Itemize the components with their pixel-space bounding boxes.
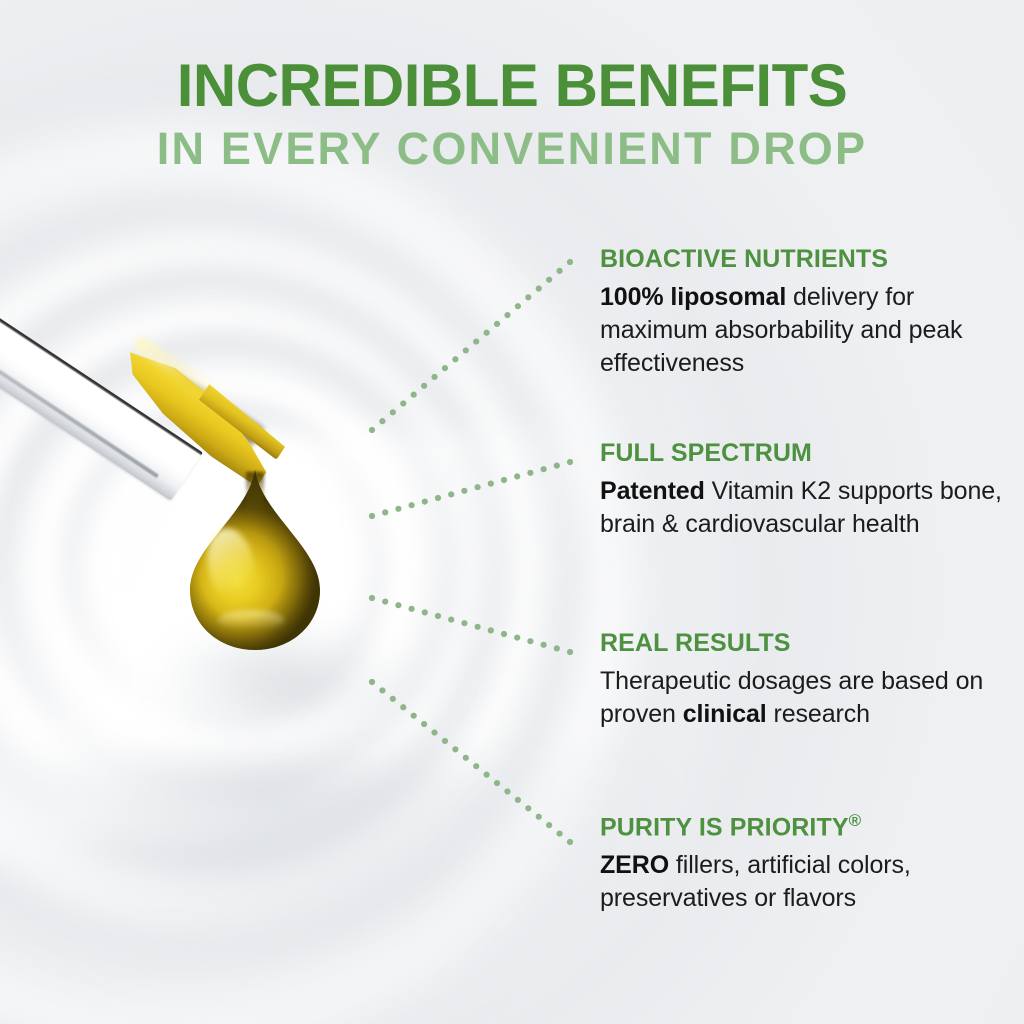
benefits-list: BIOACTIVE NUTRIENTS 100% liposomal deliv…	[600, 0, 1010, 1024]
benefit-body: Therapeutic dosages are based on proven …	[600, 665, 1008, 732]
benefit-body: Patented Vitamin K2 supports bone, brain…	[600, 475, 1008, 542]
benefit-title: BIOACTIVE NUTRIENTS	[600, 246, 1008, 274]
benefit-body-bold: Patented	[600, 477, 705, 505]
benefit-item-bioactive-nutrients: BIOACTIVE NUTRIENTS 100% liposomal deliv…	[600, 246, 1008, 380]
benefit-item-real-results: REAL RESULTS Therapeutic dosages are bas…	[600, 630, 1008, 731]
registered-trademark-icon: ®	[849, 811, 862, 830]
benefit-item-full-spectrum: FULL SPECTRUM Patented Vitamin K2 suppor…	[600, 440, 1008, 541]
droplet-lower-highlight	[218, 610, 284, 630]
oil-droplet-icon	[190, 470, 320, 650]
benefit-title: FULL SPECTRUM	[600, 440, 1008, 468]
benefit-item-purity-is-priority: PURITY IS PRIORITY® ZERO fillers, artifi…	[600, 812, 1008, 915]
droplet-tip-shading	[246, 472, 264, 518]
background-lower-shadow	[0, 760, 660, 1024]
dropper-pipette-icon	[0, 232, 340, 502]
benefit-body-bold: ZERO	[600, 851, 669, 879]
benefit-body: ZERO fillers, artificial colors, preserv…	[600, 849, 1008, 916]
benefit-body: 100% liposomal delivery for maximum abso…	[600, 281, 1008, 381]
benefit-title-text: PURITY IS PRIORITY	[600, 813, 849, 841]
benefit-body-rest: research	[767, 700, 870, 728]
benefit-body-bold: 100% liposomal	[600, 283, 786, 311]
infographic-canvas: INCREDIBLE BENEFITS IN EVERY CONVENIENT …	[0, 0, 1024, 1024]
benefit-title: REAL RESULTS	[600, 630, 1008, 658]
benefit-title: PURITY IS PRIORITY®	[600, 812, 1008, 842]
benefit-body-bold: clinical	[683, 700, 767, 728]
